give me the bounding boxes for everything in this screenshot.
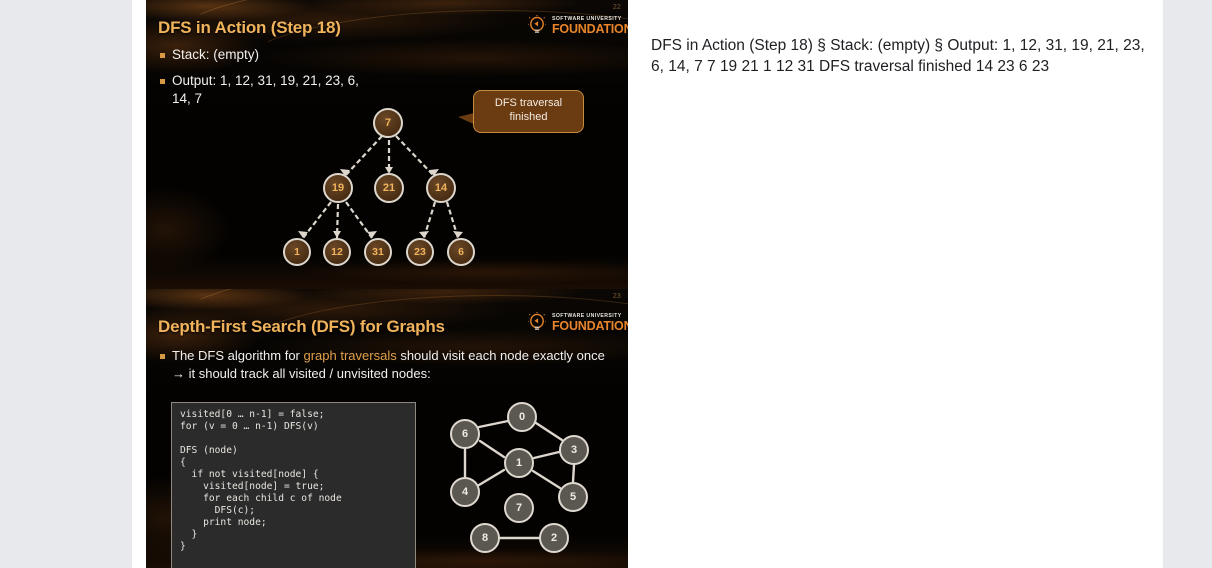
tree-node: 21 (374, 173, 404, 203)
list-item: The DFS algorithm for graph traversals s… (160, 347, 610, 384)
bullet-square-icon (160, 79, 165, 84)
tree-node: 23 (406, 238, 434, 266)
graph-node: 2 (539, 523, 569, 553)
slide-thumbnail-23[interactable]: 23 Depth-First Search (DFS) for Graphs S… (146, 289, 628, 568)
software-university-logo: SOFTWARE UNIVERSITY FOUNDATION (528, 12, 622, 40)
tree-node: 19 (323, 173, 353, 203)
tree-node: 7 (373, 108, 403, 138)
bullet-text-pre: The DFS algorithm for (172, 348, 304, 363)
software-university-logo: SOFTWARE UNIVERSITY FOUNDATION (528, 309, 622, 337)
logo-wordmark: SOFTWARE UNIVERSITY FOUNDATION (552, 17, 628, 36)
graph-node: 6 (450, 419, 480, 449)
lightbulb-icon (528, 312, 548, 334)
graph-node: 8 (470, 523, 500, 553)
list-item: Stack: (empty) (160, 46, 380, 63)
slide-thumbnail-22[interactable]: 22 DFS in Action (Step 18) SOFTWARE UNIV… (146, 0, 628, 289)
pseudocode-block: visited[0 … n-1] = false; for (v = 0 … n… (171, 402, 416, 568)
slide-number: 23 (613, 293, 621, 300)
list-item: Output: 1, 12, 31, 19, 21, 23, 6, 14, 7 (160, 72, 380, 107)
slide-row-1: 22 DFS in Action (Step 18) SOFTWARE UNIV… (132, 0, 1163, 289)
tree-node: 6 (447, 238, 475, 266)
slide-row-2: 23 Depth-First Search (DFS) for Graphs S… (132, 289, 1163, 568)
graph-node: 0 (507, 402, 537, 432)
bullet-square-icon (160, 354, 165, 359)
logo-wordmark: SOFTWARE UNIVERSITY FOUNDATION (552, 314, 628, 333)
slide-bullet-list: Stack: (empty) Output: 1, 12, 31, 19, 21… (160, 46, 380, 116)
slide-title: Depth-First Search (DFS) for Graphs (158, 317, 445, 337)
graph-node: 3 (559, 435, 589, 465)
lightbulb-icon (528, 15, 548, 37)
bullet-text-highlight: graph traversals (304, 348, 397, 363)
content-column: 22 DFS in Action (Step 18) SOFTWARE UNIV… (132, 0, 1163, 568)
tree-node: 12 (323, 238, 351, 266)
graph-node: 4 (450, 477, 480, 507)
slide-bullet-list: The DFS algorithm for graph traversals s… (160, 347, 610, 393)
slide-title: DFS in Action (Step 18) (158, 18, 341, 38)
bullet-square-icon (160, 53, 165, 58)
logo-line-2: FOUNDATION (552, 320, 628, 333)
page-root: 22 DFS in Action (Step 18) SOFTWARE UNIV… (0, 0, 1212, 568)
graph-node: 7 (504, 493, 534, 523)
callout-bubble: DFS traversal finished (473, 90, 584, 133)
slide-number: 22 (613, 4, 621, 11)
bullet-text: Output: 1, 12, 31, 19, 21, 23, 6, 14, 7 (172, 72, 380, 107)
bullet-text: The DFS algorithm for graph traversals s… (172, 347, 610, 384)
bullet-text: Stack: (empty) (172, 46, 259, 63)
graph-node: 1 (504, 448, 534, 478)
graph-node: 5 (558, 482, 588, 512)
tree-node: 31 (364, 238, 392, 266)
transcript-text-1: DFS in Action (Step 18) § Stack: (empty)… (651, 36, 1151, 77)
tree-node: 1 (283, 238, 311, 266)
logo-line-2: FOUNDATION (552, 23, 628, 36)
tree-node: 14 (426, 173, 456, 203)
